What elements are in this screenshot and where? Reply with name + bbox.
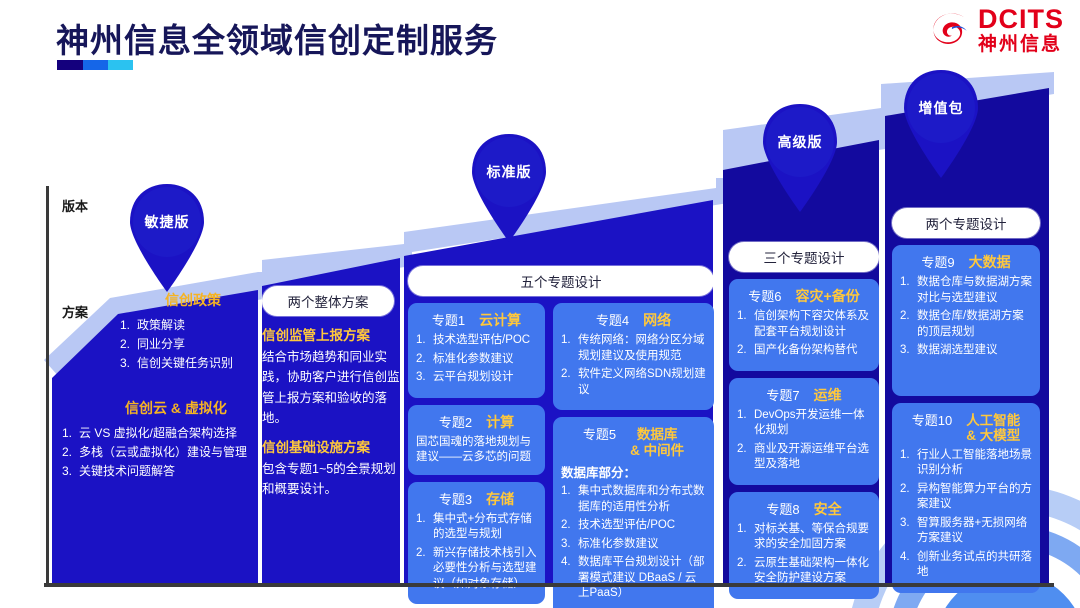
column-two-topics: 两个专题设计 专题9 大数据 1.数据仓库与数据湖方案对比与选型建议 2.数据仓… <box>892 208 1040 600</box>
list-item: 2.异构智能算力平台的方案建议 <box>900 482 1032 513</box>
page-title: 神州信息全领域信创定制服务 <box>56 14 498 62</box>
logo-wordmark: DCITS 神州信息 <box>978 6 1064 54</box>
list-item: 1.对标关基、等保合规要求的安全加固方案 <box>737 522 871 553</box>
topic-title: 运维 <box>814 387 842 403</box>
text-regulatory-report: 结合市场趋势和同业实践，协助客户进行信创监管上报方案和验收的落地。 <box>262 347 400 428</box>
topic-number: 专题2 <box>439 412 472 431</box>
logo-chinese: 神州信息 <box>978 35 1064 54</box>
five-topics-left: 专题1 云计算 1.技术选型评估/POC 2.标准化参数建议 3.云平台规划设计… <box>408 303 545 608</box>
pill-three-topics: 三个专题设计 <box>729 242 879 272</box>
topic-card-9[interactable]: 专题9 大数据 1.数据仓库与数据湖方案对比与选型建议 2.数据仓库/数据湖方案… <box>892 245 1040 396</box>
topic-number: 专题9 <box>921 252 954 271</box>
topic-title: 安全 <box>814 501 842 517</box>
list-item: 1.信创架构下容灾体系及配套平台规划设计 <box>737 309 871 340</box>
list-item: 1.DevOps开发运维一体化规划 <box>737 408 871 439</box>
list-item: 3.数据湖选型建议 <box>900 343 1032 359</box>
topic-title: 人工智能 & 大模型 <box>966 413 1020 444</box>
text-infrastructure: 包含专题1~5的全景规划和概要设计。 <box>262 459 400 500</box>
pin-teardrop-icon <box>466 130 552 242</box>
list-item: 3.信创关键任务识别 <box>120 355 266 371</box>
list-item: 1.传统网络：网络分区分域规划建议及使用规范 <box>561 333 706 364</box>
axis-label-version: 版本 <box>62 196 88 215</box>
accent-segment-1 <box>57 60 83 70</box>
list-item: 1.集中式+分布式存储的选型与规划 <box>416 512 537 543</box>
topic-card-1[interactable]: 专题1 云计算 1.技术选型评估/POC 2.标准化参数建议 3.云平台规划设计 <box>408 303 545 398</box>
pin-value-pack[interactable]: 增值包 <box>898 66 984 178</box>
dcits-logo: DCITS 神州信息 <box>928 6 1064 54</box>
topic-title-line2: & 大模型 <box>966 428 1020 443</box>
column-three-topics: 三个专题设计 专题6 容灾+备份 1.信创架构下容灾体系及配套平台规划设计 2.… <box>729 242 879 606</box>
topic-number: 专题1 <box>432 310 465 329</box>
pin-label: 敏捷版 <box>124 212 210 232</box>
section-heading-cloud: 信创云 & 虚拟化 <box>62 398 290 418</box>
list-item: 2.标准化参数建议 <box>416 352 537 368</box>
list-item: 3.云平台规划设计 <box>416 370 537 386</box>
topic-title: 云计算 <box>479 312 521 328</box>
list-item: 1.政策解读 <box>120 317 266 333</box>
topic-title: 数据库 & 中间件 <box>630 427 684 458</box>
topic-number: 专题5 <box>583 424 616 443</box>
topic-card-2[interactable]: 专题2 计算 国芯国魂的落地规划与建议——云多芯的问题 <box>408 405 545 475</box>
list-item: 2.软件定义网络SDN规划建议 <box>561 367 706 398</box>
list-item: 2.商业及开源运维平台选型及落地 <box>737 442 871 473</box>
list-item: 2.数据仓库/数据湖方案的顶层规划 <box>900 309 1032 340</box>
five-topics-right: 专题4 网络 1.传统网络：网络分区分域规划建议及使用规范 2.软件定义网络SD… <box>553 303 714 608</box>
dcits-swirl-icon <box>928 7 974 53</box>
list-item: 2.同业分享 <box>120 336 266 352</box>
topic-title: 大数据 <box>969 254 1011 270</box>
topic-card-5[interactable]: 专题5 数据库 & 中间件 数据库部分： 1.集中式数据库和分布式数据库的适用性… <box>553 417 714 608</box>
topic-number: 专题3 <box>439 489 472 508</box>
accent-segment-2 <box>83 60 108 70</box>
pin-label: 增值包 <box>898 98 984 118</box>
list-item: 3.智算服务器+无损网络方案建议 <box>900 516 1032 547</box>
list-item: 1.行业人工智能落地场景识别分析 <box>900 448 1032 479</box>
agile-cloud-block: 信创云 & 虚拟化 1.云 VS 虚拟化/超融合架构选择 2.多栈（云或虚拟化）… <box>62 398 290 480</box>
topic-title-line2: & 中间件 <box>630 443 684 458</box>
pill-five-topics: 五个专题设计 <box>408 266 714 296</box>
topic-card-10[interactable]: 专题10 人工智能 & 大模型 1.行业人工智能落地场景识别分析 2.异构智能算… <box>892 403 1040 593</box>
pin-teardrop-icon <box>757 100 843 212</box>
topic-title: 存储 <box>486 491 514 507</box>
pill-two-topics: 两个专题设计 <box>892 208 1040 238</box>
db-section-label: 数据库部分： <box>561 462 706 481</box>
column-five-topics: 五个专题设计 专题1 云计算 1.技术选型评估/POC 2.标准化参数建议 3.… <box>408 266 714 608</box>
topic-list: 1.对标关基、等保合规要求的安全加固方案 2.云原生基础架构一体化安全防护建设方… <box>737 522 871 587</box>
topic-list: 1.信创架构下容灾体系及配套平台规划设计 2.国产化备份架构替代 <box>737 309 871 359</box>
topic-list: 1.DevOps开发运维一体化规划 2.商业及开源运维平台选型及落地 <box>737 408 871 473</box>
list-item: 1.云 VS 虚拟化/超融合架构选择 <box>62 425 290 441</box>
logo-english: DCITS <box>978 6 1064 33</box>
slide-canvas: 神州信息全领域信创定制服务 DCITS 神州信息 版本 方案 敏捷版 标准版 <box>0 0 1080 608</box>
cloud-list: 1.云 VS 虚拟化/超融合架构选择 2.多栈（云或虚拟化）建设与管理 3.关键… <box>62 425 290 480</box>
pin-agile[interactable]: 敏捷版 <box>124 180 210 292</box>
topic-card-4[interactable]: 专题4 网络 1.传统网络：网络分区分域规划建议及使用规范 2.软件定义网络SD… <box>553 303 714 410</box>
pin-teardrop-icon <box>898 66 984 178</box>
baseline <box>44 583 1054 587</box>
topic-title: 计算 <box>486 414 514 430</box>
heading-infrastructure: 信创基础设施方案 <box>262 436 400 456</box>
topic-list: 1.传统网络：网络分区分域规划建议及使用规范 2.软件定义网络SDN规划建议 <box>561 333 706 398</box>
list-item: 4.创新业务试点的共研落地 <box>900 550 1032 581</box>
topic-title: 容灾+备份 <box>796 288 860 304</box>
topic-title-line1: 数据库 <box>637 427 678 442</box>
heading-regulatory-report: 信创监管上报方案 <box>262 324 400 344</box>
axis-label-solution: 方案 <box>62 302 88 321</box>
topic-number: 专题10 <box>912 410 952 429</box>
list-item: 1.集中式数据库和分布式数据库的适用性分析 <box>561 484 706 515</box>
title-accent-bar <box>57 60 133 70</box>
topic-list: 1.技术选型评估/POC 2.标准化参数建议 3.云平台规划设计 <box>416 333 537 386</box>
accent-segment-3 <box>108 60 133 70</box>
topic-card-7[interactable]: 专题7 运维 1.DevOps开发运维一体化规划 2.商业及开源运维平台选型及落… <box>729 378 879 485</box>
category-axis-line <box>46 186 49 583</box>
pin-teardrop-icon <box>124 180 210 292</box>
pin-label: 标准版 <box>466 162 552 182</box>
column-agile: 信创政策 1.政策解读 2.同业分享 3.信创关键任务识别 信创云 & 虚拟化 … <box>120 290 266 482</box>
topic-number: 专题6 <box>748 286 781 305</box>
pin-advanced[interactable]: 高级版 <box>757 100 843 212</box>
policy-list: 1.政策解读 2.同业分享 3.信创关键任务识别 <box>120 317 266 372</box>
topic-list: 1.数据仓库与数据湖方案对比与选型建议 2.数据仓库/数据湖方案的顶层规划 3.… <box>900 275 1032 359</box>
topic-list: 1.集中式+分布式存储的选型与规划 2.新兴存储技术栈引入必要性分析与选型建议（… <box>416 512 537 593</box>
topic-list: 1.行业人工智能落地场景识别分析 2.异构智能算力平台的方案建议 3.智算服务器… <box>900 448 1032 581</box>
list-item: 2.多栈（云或虚拟化）建设与管理 <box>62 444 290 460</box>
list-item: 1.技术选型评估/POC <box>416 333 537 349</box>
topic-number: 专题7 <box>766 385 799 404</box>
pin-standard[interactable]: 标准版 <box>466 130 552 242</box>
topic-text: 国芯国魂的落地规划与建议——云多芯的问题 <box>416 435 537 466</box>
topic-number: 专题4 <box>596 310 629 329</box>
pin-label: 高级版 <box>757 132 843 152</box>
topic-title-line1: 人工智能 <box>966 413 1020 428</box>
list-item: 4.数据库平台规划设计（部署模式建议 DBaaS / 云上PaaS） <box>561 555 706 602</box>
list-item: 1.数据仓库与数据湖方案对比与选型建议 <box>900 275 1032 306</box>
list-item: 2.国产化备份架构替代 <box>737 343 871 359</box>
topic-card-6[interactable]: 专题6 容灾+备份 1.信创架构下容灾体系及配套平台规划设计 2.国产化备份架构… <box>729 279 879 371</box>
topic-number: 专题8 <box>766 499 799 518</box>
topic-title: 网络 <box>643 312 671 328</box>
section-heading-policy: 信创政策 <box>120 290 266 310</box>
list-item: 3.关键技术问题解答 <box>62 463 290 479</box>
list-item: 2.技术选型评估/POC <box>561 518 706 534</box>
list-item: 3.标准化参数建议 <box>561 537 706 553</box>
pill-overall-solutions: 两个整体方案 <box>262 286 394 316</box>
column-overall-solutions: 两个整体方案 信创监管上报方案 结合市场趋势和同业实践，协助客户进行信创监管上报… <box>262 286 400 500</box>
